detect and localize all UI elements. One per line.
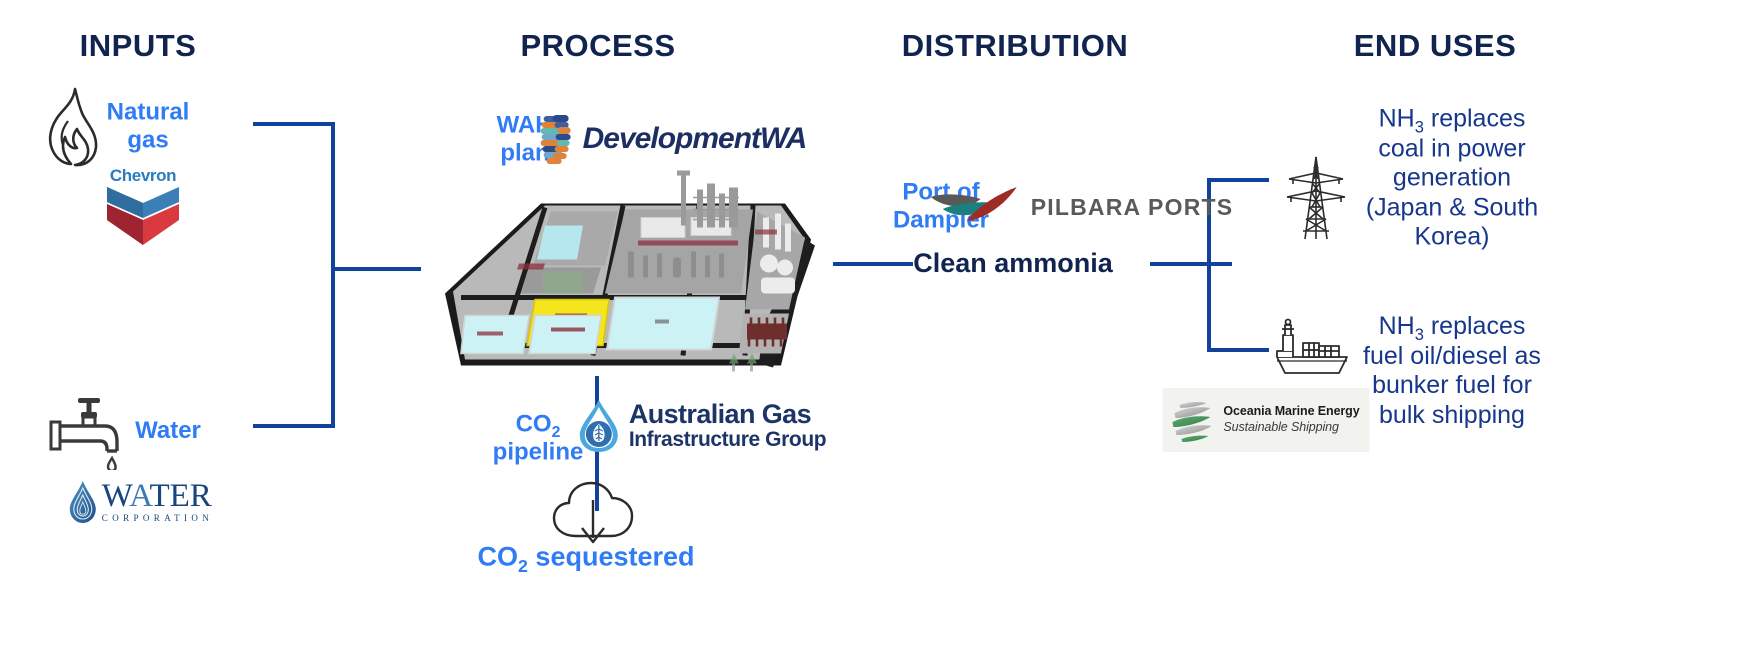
oceania-globe-icon [1168, 395, 1218, 445]
connector-distribution-horizontal [1150, 262, 1232, 266]
connector-process-to-distribution [833, 262, 913, 266]
connector-water-horizontal [253, 424, 335, 428]
pilbara-ports-wordmark: PILBARA PORTS [1031, 194, 1234, 221]
diagram-canvas: INPUTS PROCESS DISTRIBUTION END USES Nat… [0, 0, 1746, 648]
oceania-marine-energy-logo: Oceania Marine Energy Sustainable Shippi… [1162, 388, 1369, 452]
developmentwa-logo: DevelopmentWA [540, 113, 807, 165]
water-corporation-logo: WATER CORPORATION [67, 480, 213, 524]
agig-leaf-drop-icon [576, 398, 622, 454]
water-drop-icon [67, 480, 99, 524]
ammonia-plant-illustration [433, 168, 823, 393]
input-label-water: Water [135, 417, 201, 445]
end-use-text-bunker-fuel: NH3 replacesfuel oil/diesel asbunker fue… [1363, 312, 1541, 430]
input-label-natural-gas: Naturalgas [107, 98, 190, 153]
pilbara-ports-logo: PILBARA PORTS [929, 181, 1234, 233]
process-label-co2-pipeline: CO2pipeline [493, 410, 584, 465]
connector-natural-gas-horizontal [253, 122, 335, 126]
chevron-mark-icon [107, 187, 179, 249]
oceania-wordmark-line2: Sustainable Shipping [1223, 420, 1359, 436]
developmentwa-mark-icon [540, 113, 576, 165]
column-header-distribution: DISTRIBUTION [902, 28, 1128, 64]
agig-wordmark-line1: Australian Gas [629, 401, 826, 429]
chevron-logo: Chevron [107, 166, 179, 254]
australian-gas-infrastructure-group-logo: Australian Gas Infrastructure Group [576, 398, 826, 454]
oceania-wordmark-line1: Oceania Marine Energy [1223, 404, 1359, 420]
connector-end-use-shipping [1207, 348, 1269, 352]
container-ship-icon [1269, 317, 1359, 379]
electricity-pylon-icon [1281, 153, 1351, 241]
column-header-process: PROCESS [520, 28, 675, 64]
water-corporation-subtext: CORPORATION [102, 513, 213, 523]
connector-inputs-to-process [331, 267, 421, 271]
column-header-end-uses: END USES [1354, 28, 1516, 64]
connector-inputs-vertical [331, 122, 335, 428]
distribution-label-clean-ammonia: Clean ammonia [913, 247, 1113, 279]
end-use-text-power-generation: NH3 replacescoal in powergeneration(Japa… [1366, 104, 1538, 252]
process-label-co2-sequestered: CO2 sequestered [478, 541, 695, 572]
agig-wordmark-line2: Infrastructure Group [629, 429, 826, 451]
water-corporation-wordmark: WATER [102, 481, 213, 512]
developmentwa-wordmark: DevelopmentWA [583, 122, 807, 156]
chevron-logo-text: Chevron [107, 166, 179, 186]
cloud-down-arrow-icon [546, 476, 642, 548]
flame-icon [39, 85, 101, 169]
column-header-inputs: INPUTS [80, 28, 197, 64]
tap-icon [45, 394, 131, 470]
pilbara-ports-mark-icon [929, 181, 1025, 233]
